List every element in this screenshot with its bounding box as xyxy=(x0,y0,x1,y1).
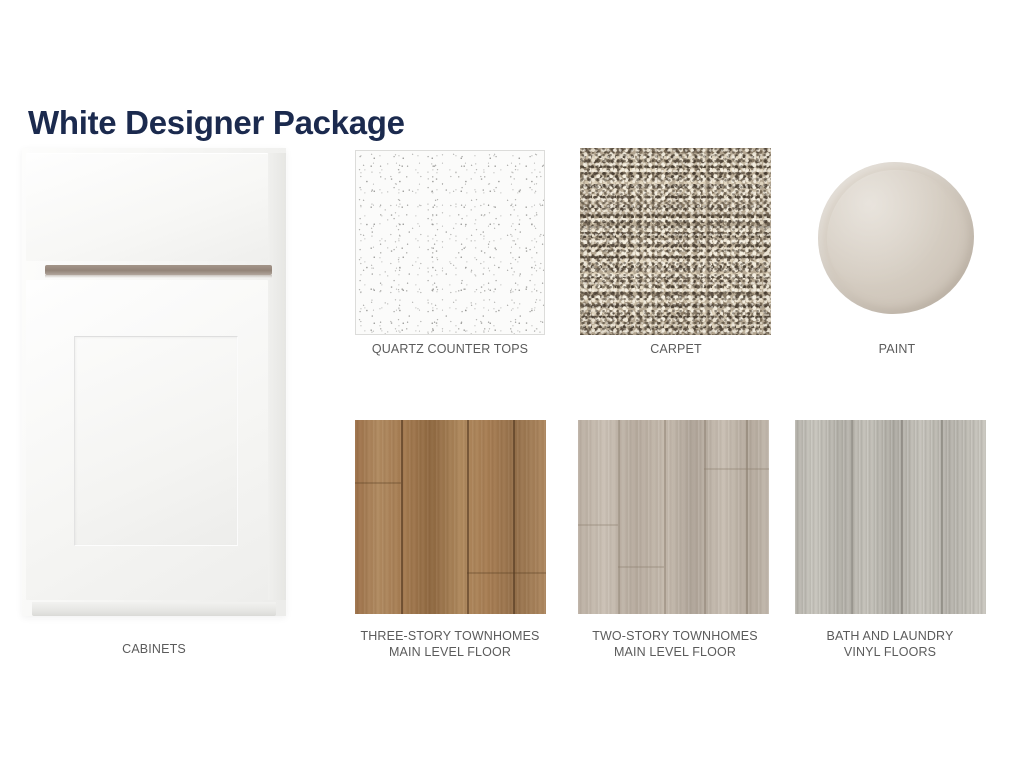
label-cabinets: CABINETS xyxy=(22,641,286,657)
swatch-cabinets[interactable] xyxy=(22,148,286,616)
cabinet-body xyxy=(22,148,286,616)
cabinet-drawer-pull-line xyxy=(45,265,272,275)
label-quartz-counter-tops: QUARTZ COUNTER TOPS xyxy=(355,341,545,357)
plank-cross-seam xyxy=(704,468,769,470)
plank-seam xyxy=(851,420,853,614)
label-carpet: CARPET xyxy=(576,341,776,357)
swatch-floor-two-story[interactable] xyxy=(578,420,769,614)
swatch-floor-vinyl[interactable] xyxy=(795,420,986,614)
plank-seam xyxy=(467,420,469,614)
plank-seam xyxy=(901,420,903,614)
cabinet-side-panel xyxy=(268,153,286,600)
design-package-board: White Designer Package CABINETS QUARTZ C… xyxy=(0,0,1024,768)
plank-cross-seam xyxy=(618,566,664,568)
plank-cross-seam xyxy=(578,524,618,526)
plank-seam xyxy=(618,420,620,614)
label-floor-three-story: THREE-STORY TOWNHOMES MAIN LEVEL FLOOR xyxy=(340,628,560,660)
plank-seam xyxy=(941,420,943,614)
label-floor-vinyl: BATH AND LAUNDRY VINYL FLOORS xyxy=(790,628,990,660)
plank-seam xyxy=(664,420,666,614)
plank-seam xyxy=(513,420,515,614)
label-paint: PAINT xyxy=(812,341,982,357)
swatch-quartz-counter-tops[interactable] xyxy=(355,150,545,335)
cabinet-drawer-front xyxy=(26,153,268,261)
label-floor-two-story: TWO-STORY TOWNHOMES MAIN LEVEL FLOOR xyxy=(565,628,785,660)
plank-seam xyxy=(704,420,706,614)
page-title: White Designer Package xyxy=(28,104,405,142)
plank-cross-seam xyxy=(355,482,401,484)
plank-seam xyxy=(746,420,748,614)
cabinet-recessed-panel xyxy=(74,336,238,546)
paint-blob-icon xyxy=(818,162,974,314)
plank-seam xyxy=(401,420,403,614)
swatch-floor-three-story[interactable] xyxy=(355,420,546,614)
cabinet-base xyxy=(32,602,276,616)
cabinet-door-frame xyxy=(26,280,268,600)
plank-cross-seam xyxy=(467,572,546,574)
swatch-carpet[interactable] xyxy=(580,148,771,335)
swatch-paint[interactable] xyxy=(818,162,974,314)
